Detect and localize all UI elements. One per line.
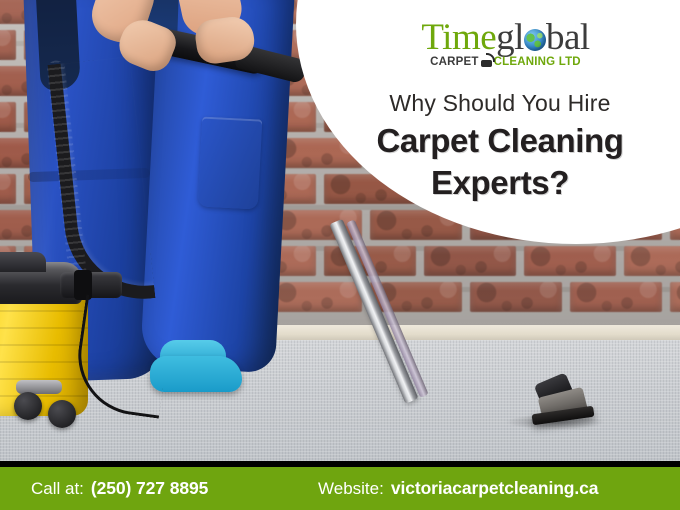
call-label: Call at: <box>31 479 84 499</box>
headline-line-2: Carpet Cleaning <box>330 120 670 162</box>
contact-footer-bar: Call at: (250) 727 8895 Website: victori… <box>0 467 680 510</box>
logo-tagline-cleaning: CLEANING LTD <box>494 56 581 68</box>
logo-bal-text: bal <box>546 17 590 58</box>
logo-wordmark: Timeglbal <box>398 18 613 58</box>
logo-tagline: CARPETCLEANING LTD <box>398 54 613 68</box>
globe-icon <box>524 29 546 51</box>
headline-block: Why Should You Hire Carpet Cleaning Expe… <box>330 88 670 204</box>
logo-gl-text: gl <box>496 17 524 58</box>
vacuum-icon <box>479 54 494 67</box>
website-block[interactable]: Website: victoriacarpetcleaning.ca <box>318 467 598 510</box>
website-label: Website: <box>318 479 384 499</box>
headline-line-1: Why Should You Hire <box>330 88 670 118</box>
website-url[interactable]: victoriacarpetcleaning.ca <box>391 478 599 499</box>
brand-logo[interactable]: Timeglbal CARPETCLEANING LTD <box>398 18 613 68</box>
logo-time-text: Time <box>421 17 496 58</box>
phone-block[interactable]: Call at: (250) 727 8895 <box>31 467 208 510</box>
banner-image: Timeglbal CARPETCLEANING LTD Why Should … <box>0 0 680 510</box>
headline-line-3: Experts? <box>330 162 670 204</box>
logo-tagline-carpet: CARPET <box>430 56 478 68</box>
phone-number[interactable]: (250) 727 8895 <box>91 478 208 499</box>
